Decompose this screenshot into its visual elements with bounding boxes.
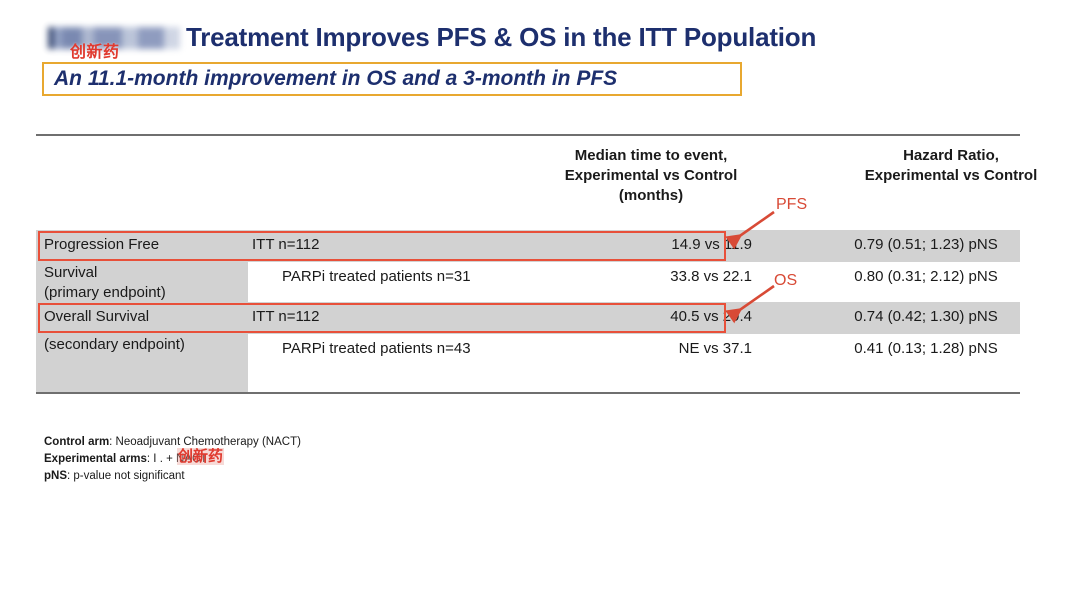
slide-canvas: 创新药 Treatment Improves PFS & OS in the I…: [0, 0, 1080, 604]
footnote-pns: pNS: p-value not significant: [44, 468, 301, 485]
cell-median-row4: NE vs 37.1: [506, 339, 752, 359]
cell-endpoint-sub: (secondary endpoint): [44, 335, 244, 355]
cell-hazard-row4: 0.41 (0.13; 1.28) pNS: [796, 339, 1056, 359]
cell-hazard-row1: 0.79 (0.51; 1.23) pNS: [796, 235, 1056, 255]
footnotes: Control arm: Neoadjuvant Chemotherapy (N…: [44, 434, 301, 485]
footnote-experimental-label: Experimental arms: [44, 453, 147, 465]
company-logo: 创新药: [48, 24, 180, 54]
page-title: Treatment Improves PFS & OS in the ITT P…: [186, 22, 816, 53]
header-hazard-ratio: Hazard Ratio, Experimental vs Control: [806, 146, 1080, 186]
cell-median-row2: 33.8 vs 22.1: [506, 267, 752, 287]
logo-redaction-watermark: 创新药: [70, 38, 120, 62]
subtitle-text: An 11.1-month improvement in OS and a 3-…: [44, 67, 617, 91]
footnote-pns-label: pNS: [44, 470, 67, 482]
header-median-line1: Median time to event,: [506, 146, 796, 166]
table-row: Survival: [44, 263, 244, 283]
table-bottom-rule: [36, 392, 1020, 394]
header-median-line3: (months): [506, 186, 796, 206]
footnote-redaction-watermark: 创新药: [177, 448, 224, 465]
header-hazard-line2: Experimental vs Control: [806, 166, 1080, 186]
footnote-experimental-arm: Experimental arms: I . + NACT 创新药: [44, 451, 301, 468]
highlight-box-pfs: [38, 231, 726, 261]
footnote-control-label: Control arm: [44, 436, 109, 448]
header-hazard-line1: Hazard Ratio,: [806, 146, 1080, 166]
highlight-box-os: [38, 303, 726, 333]
cell-hazard-row3: 0.74 (0.42; 1.30) pNS: [796, 307, 1056, 327]
cell-endpoint-sub: (primary endpoint): [44, 283, 244, 303]
cell-hazard-row2: 0.80 (0.31; 2.12) pNS: [796, 267, 1056, 287]
header-median-time: Median time to event, Experimental vs Co…: [506, 146, 796, 206]
header-median-line2: Experimental vs Control: [506, 166, 796, 186]
table-top-rule: [36, 134, 1020, 136]
results-table: Median time to event, Experimental vs Co…: [36, 134, 1020, 394]
annotation-arrow-pfs: [724, 210, 784, 246]
annotation-arrow-os: [724, 284, 784, 320]
footnote-pns-text: : p-value not significant: [67, 470, 185, 482]
subtitle-callout-box: An 11.1-month improvement in OS and a 3-…: [42, 62, 742, 96]
footnote-control-arm: Control arm: Neoadjuvant Chemotherapy (N…: [44, 434, 301, 451]
cell-endpoint: Survival: [44, 264, 97, 281]
